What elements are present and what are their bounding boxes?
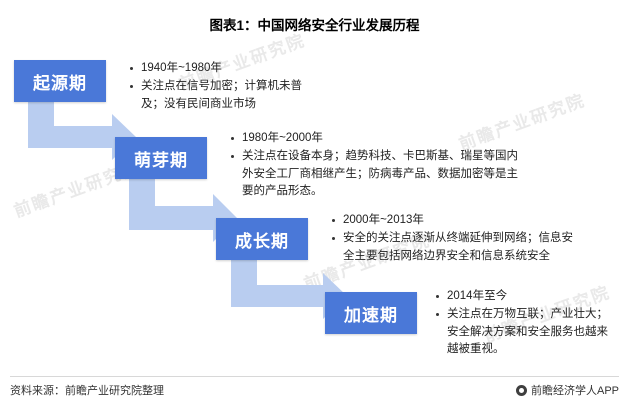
stage-box-origin[interactable]: 起源期 [14,60,106,102]
infographic-canvas: 前瞻产业研究院 前瞻产业研究院 前瞻产业研究院 前瞻产业研究院 前瞻产业研究院 … [0,0,629,404]
list-item: 2000年~2013年 [330,212,580,229]
footer-divider [10,376,619,377]
list-item: 安全的关注点逐渐从终端延伸到网络；信息安全主要包括网络边界安全和信息系统安全 [330,230,580,265]
chart-title: 图表1：中国网络安全行业发展历程 [0,14,629,34]
stage-description-growth: 2000年~2013年 安全的关注点逐渐从终端延伸到网络；信息安全主要包括网络边… [330,212,580,266]
stage-box-sprout[interactable]: 萌芽期 [115,137,207,179]
stage-box-acceleration[interactable]: 加速期 [325,292,417,334]
list-item: 关注点在万物互联；产业壮大；安全解决方案和安全服务也越来越被重视。 [434,306,619,358]
stage-description-acceleration: 2014年至今 关注点在万物互联；产业壮大；安全解决方案和安全服务也越来越被重视… [434,288,619,360]
list-item: 关注点在设备本身；趋势科技、卡巴斯基、瑞星等国内外安全工厂商相继产生；防病毒产品… [229,148,529,200]
brand-credit: 前瞻经济学人APP [516,382,619,398]
list-item: 1980年~2000年 [229,130,529,147]
stage-description-sprout: 1980年~2000年 关注点在设备本身；趋势科技、卡巴斯基、瑞星等国内外安全工… [229,130,529,202]
stage-description-origin: 1940年~1980年 关注点在信号加密；计算机未普及；没有民间商业市场 [128,60,313,114]
list-item: 1940年~1980年 [128,60,313,77]
list-item: 2014年至今 [434,288,619,305]
list-item: 关注点在信号加密；计算机未普及；没有民间商业市场 [128,78,313,113]
brand-logo-icon [516,385,527,396]
brand-label: 前瞻经济学人APP [531,382,619,398]
source-note: 资料来源：前瞻产业研究院整理 [10,382,164,398]
stage-box-growth[interactable]: 成长期 [216,218,308,260]
